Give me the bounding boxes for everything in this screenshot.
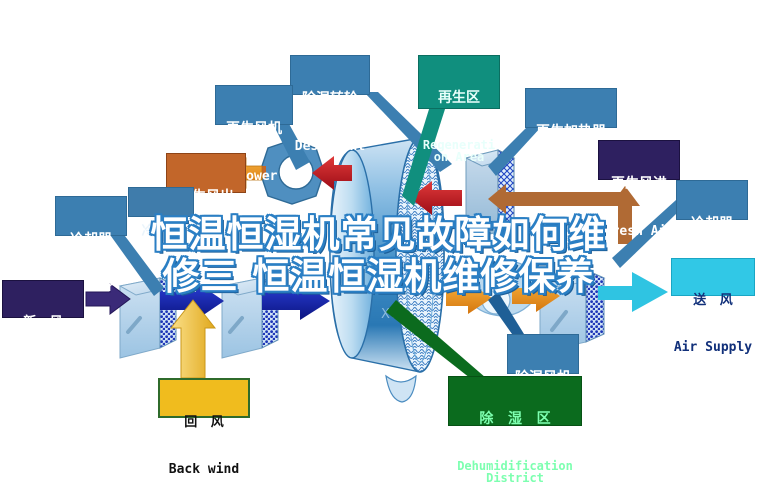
label-cn: 新 风	[3, 316, 83, 330]
back-wind-arrow	[171, 300, 215, 378]
label-cn: 送 风	[672, 294, 754, 308]
label-cn: 除 湿 区	[449, 412, 581, 427]
label-cn: 再生加热器	[526, 125, 616, 140]
diagram-canvas: XT	[0, 0, 757, 488]
label-dehumidification-district[interactable]: 除 湿 区 Dehumidification District	[448, 376, 582, 426]
cooler-coil-block-2	[222, 278, 278, 358]
label-cn: 冷却器	[56, 233, 126, 248]
label-cn: 再生区	[419, 91, 499, 106]
label-cn: 再生风进	[599, 177, 679, 192]
label-cn: 冷却器	[129, 225, 193, 239]
label-cn: 除湿转轮	[291, 92, 369, 107]
label-cooler-right[interactable]: 冷却器 Cooler	[676, 180, 748, 220]
label-en: Desiccant	[291, 140, 369, 154]
label-regen-blower[interactable]: 再生风机 Blower	[215, 85, 293, 125]
label-en: Dehumidification District	[449, 460, 581, 484]
label-cooler-left-background[interactable]: 冷却器	[128, 187, 194, 217]
label-new-fresh-air[interactable]: 新 风 Fresh Air	[2, 280, 84, 318]
label-en: Fresh Air	[3, 363, 83, 377]
label-cn: 回 风	[160, 416, 248, 430]
label-regeneration-area[interactable]: 再生区 Regenerati on Area	[418, 55, 500, 109]
cooler-coil-block-1	[120, 278, 176, 358]
label-cn: 再生风机	[216, 122, 292, 137]
label-en: Fresh Air	[599, 225, 679, 239]
label-regen-fresh-air[interactable]: 再生风进 Fresh Air	[598, 140, 680, 180]
label-en: Back wind	[160, 463, 248, 477]
label-cn: 冷却器	[677, 217, 747, 232]
air-supply-arrow	[598, 272, 668, 312]
label-cooler-left[interactable]: 冷却器 Cooler	[55, 196, 127, 236]
label-dehumid-blower[interactable]: 除湿风机 Blower	[507, 334, 579, 374]
label-regen-heater[interactable]: 再生加热器 heater	[525, 88, 617, 128]
label-en: Regenerati on Area	[419, 139, 499, 164]
label-back-wind[interactable]: 回 风 Back wind	[158, 378, 250, 418]
label-air-supply[interactable]: 送 风 Air Supply	[671, 258, 755, 296]
label-desiccant-wheel[interactable]: 除湿转轮 Desiccant	[290, 55, 370, 95]
label-en: Air Supply	[672, 341, 754, 355]
